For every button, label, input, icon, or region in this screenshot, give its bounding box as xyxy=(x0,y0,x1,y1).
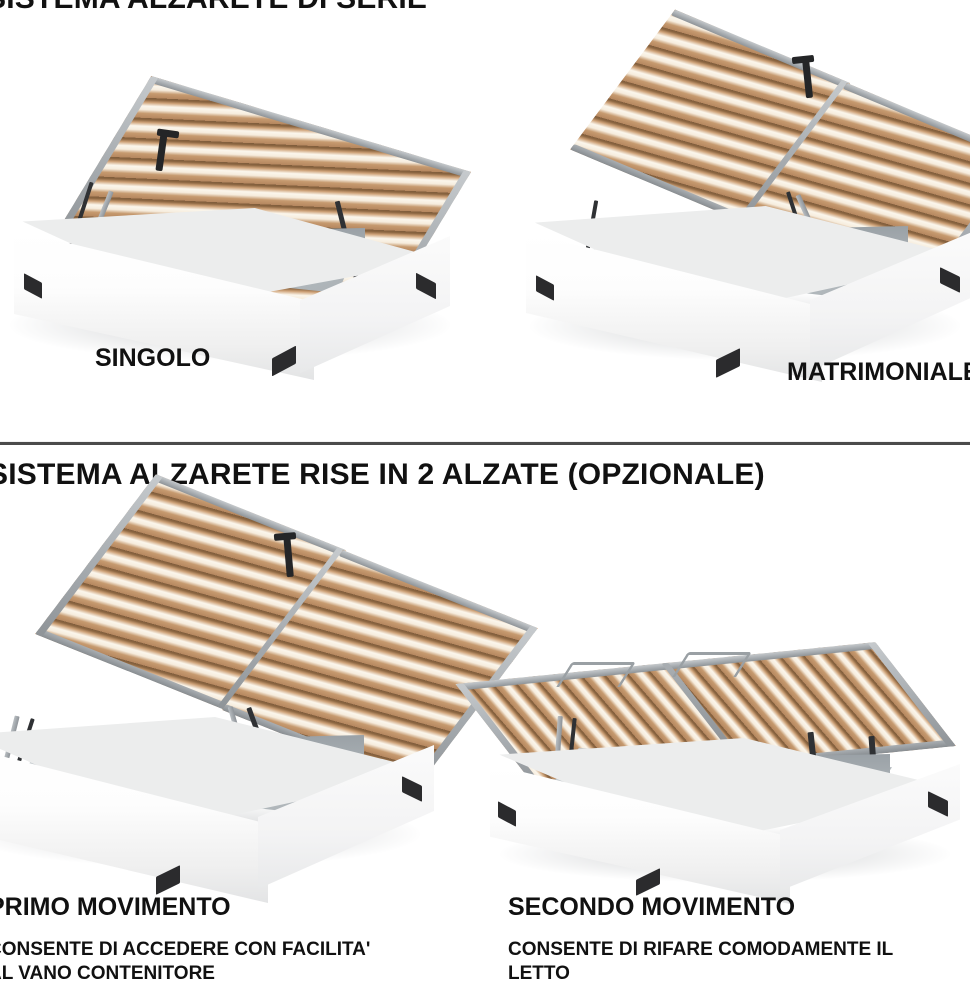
figure-caption-primo: CONSENTE DI ACCEDERE CON FACILITA' AL VA… xyxy=(0,938,370,986)
figure-matrimoniale xyxy=(510,40,970,360)
section-title-standard: SISTEMA ALZARETE DI SERIE xyxy=(0,0,427,16)
section-divider xyxy=(0,441,970,445)
figure-primo-movimento xyxy=(0,505,450,865)
caption-line-1: CONSENTE DI RIFARE COMODAMENTE IL xyxy=(508,938,893,962)
caption-line-2: LETTO xyxy=(508,962,893,986)
lift-strap-hook-top xyxy=(792,55,815,64)
figure-label-primo-movimento: PRIMO MOVIMENTO xyxy=(0,893,231,922)
figure-caption-secondo: CONSENTE DI RIFARE COMODAMENTE IL LETTO xyxy=(508,938,893,986)
figure-label-matrimoniale: MATRIMONIALE xyxy=(787,358,970,387)
figure-label-singolo: SINGOLO xyxy=(95,344,210,373)
figure-label-secondo-movimento: SECONDO MOVIMENTO xyxy=(508,893,795,922)
caption-line-2: AL VANO CONTENITORE xyxy=(0,962,370,986)
figure-secondo-movimento xyxy=(480,620,970,880)
section-title-rise: SISTEMA ALZARETE RISE IN 2 ALZATE (OPZIO… xyxy=(0,458,765,492)
caption-line-1: CONSENTE DI ACCEDERE CON FACILITA' xyxy=(0,938,370,962)
catalog-page: SISTEMA ALZARETE DI SERIE SINGOLO xyxy=(0,0,970,970)
figure-singolo xyxy=(0,40,470,360)
